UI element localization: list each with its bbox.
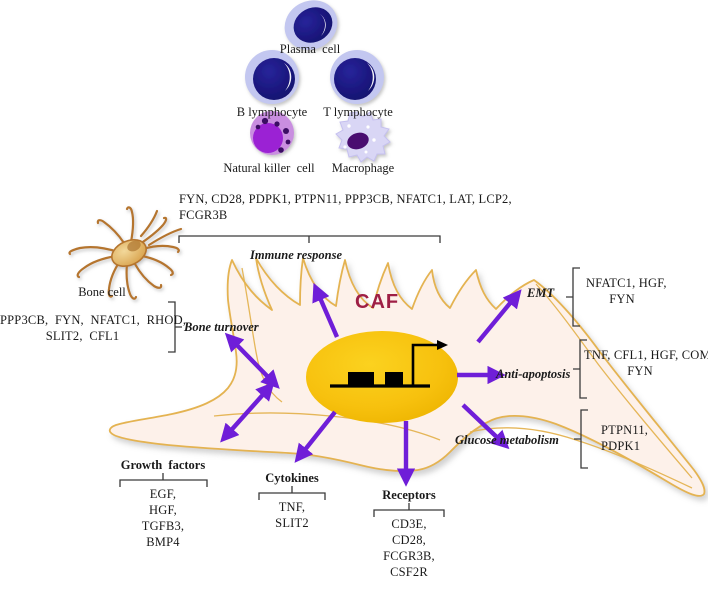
emt-label: EMT [527,286,554,301]
growth-factors-item-2: TGFB3, [118,519,208,534]
figure-canvas: Plasma cell B lymphocyte T lymphocyte Na… [0,0,708,603]
bracket-immune-response [179,236,440,243]
bracket-growth-factors [120,473,207,487]
growth-factors-item-1: HGF, [118,503,208,518]
t-lymphocyte-icon [330,50,384,104]
caf-label: CAF [355,290,399,314]
bracket-receptors [374,503,444,517]
growth-factors-item-3: BMP4 [118,535,208,550]
bracket-bone-turnover [168,302,182,352]
receptors-item-2: FCGR3B, [374,549,444,564]
anti-apoptosis-genes-line1: TNF, CFL1, HGF, COMP, [584,348,708,363]
receptors-item-1: CD28, [374,533,444,548]
t-lymphocyte-label: T lymphocyte [308,105,408,120]
bone-turnover-genes-line2: SLIT2, CFL1 [0,329,165,344]
glucose-metabolism-label: Glucose metabolism [455,433,559,448]
glucose-metabolism-genes-line2: PDPK1 [601,439,640,454]
receptors-item-0: CD3E, [374,517,444,532]
b-lymphocyte-icon [245,50,299,104]
b-lymphocyte-label: B lymphocyte [222,105,322,120]
growth-factors-label: Growth factors [113,458,213,473]
anti-apoptosis-label: Anti-apoptosis [496,367,570,382]
immune-response-genes-line1: FYN, CD28, PDPK1, PTPN11, PPP3CB, NFATC1… [179,192,512,207]
bone-turnover-genes-line1: PPP3CB, FYN, NFATC1, RHOD, [0,313,165,328]
bone-cell-label: Bone cell [57,285,147,300]
emt-genes-line2: FYN [586,292,658,307]
glucose-metabolism-genes-line1: PTPN11, [601,423,648,438]
receptors-item-3: CSF2R [374,565,444,580]
plasma-cell-label: Plasma cell [260,42,360,57]
growth-factors-item-0: EGF, [118,487,208,502]
bracket-cytokines [259,486,325,500]
immune-response-genes-line2: FCGR3B [179,208,227,223]
bone-turnover-label: Bone turnover [184,320,259,335]
cytokines-item-1: SLIT2 [257,516,327,531]
cytokines-item-0: TNF, [257,500,327,515]
immune-response-label: Immune response [250,248,342,263]
anti-apoptosis-genes-line2: FYN [584,364,696,379]
cytokines-label: Cytokines [252,471,332,486]
macrophage-label: Macrophage [313,161,413,176]
emt-genes-line1: NFATC1, HGF, [586,276,667,291]
receptors-label: Receptors [369,488,449,503]
